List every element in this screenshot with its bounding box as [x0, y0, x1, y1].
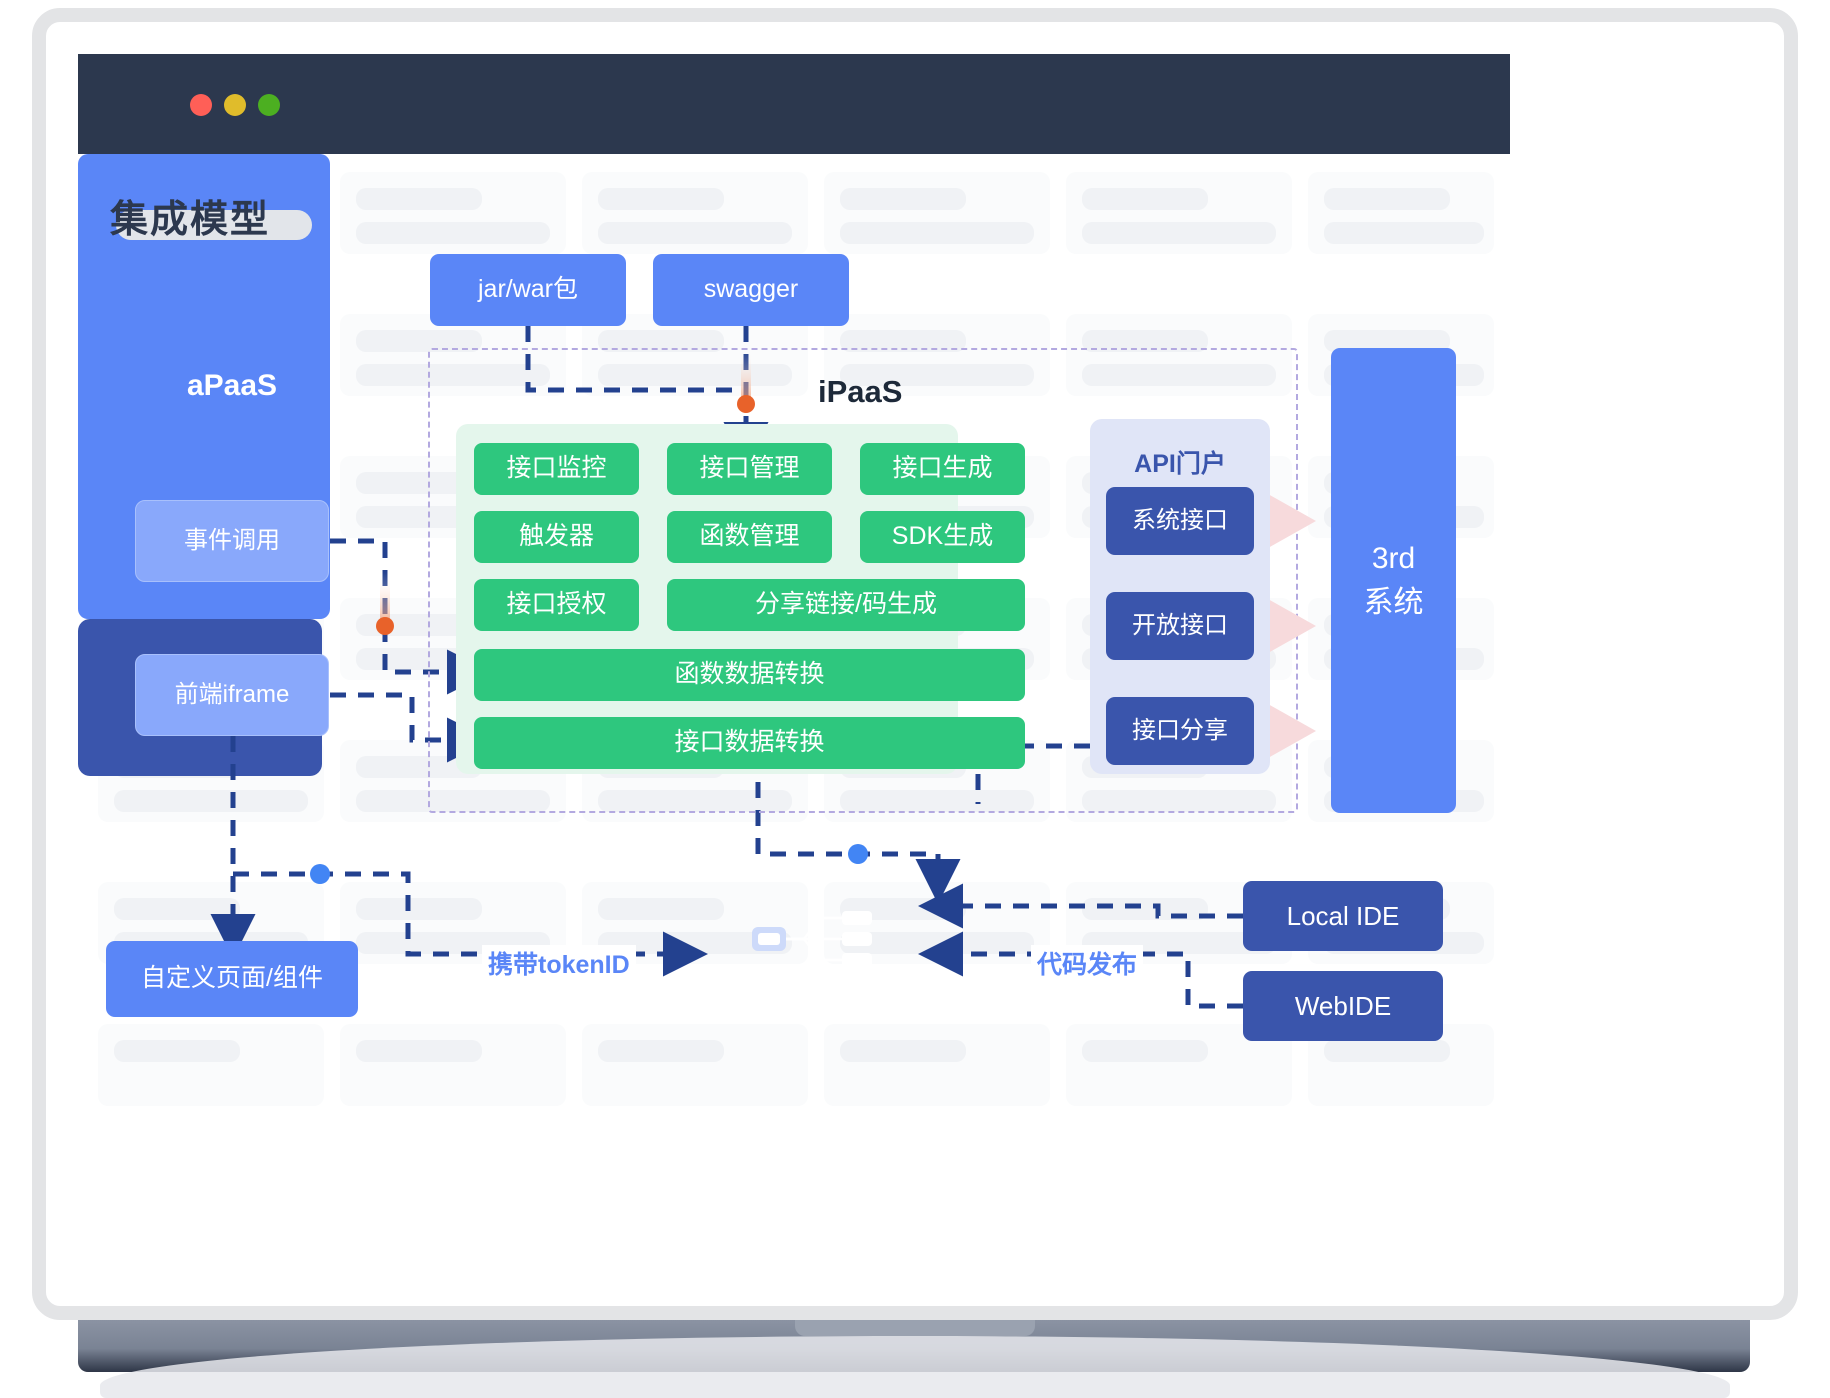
source-box-jar-war[interactable]: jar/war包	[430, 254, 626, 326]
third-party-line1: 3rd	[1372, 537, 1415, 581]
ipaas-cap-func-data-transform[interactable]: 函数数据转换	[474, 649, 1025, 701]
browser-titlebar	[78, 54, 1510, 154]
api-portal-item-share-api[interactable]: 接口分享	[1106, 697, 1254, 765]
apaas-item-event-call[interactable]: 事件调用	[135, 500, 329, 582]
ipaas-cap-share-link[interactable]: 分享链接/码生成	[667, 579, 1025, 631]
web-ide-box[interactable]: WebIDE	[1243, 971, 1443, 1041]
minimize-icon[interactable]	[224, 94, 246, 116]
ipaas-cap-api-auth[interactable]: 接口授权	[474, 579, 639, 631]
apaas-item-front-iframe[interactable]: 前端iframe	[135, 654, 329, 736]
close-icon[interactable]	[190, 94, 212, 116]
api-portal-item-open-api[interactable]: 开放接口	[1106, 592, 1254, 660]
ipaas-cap-api-monitor[interactable]: 接口监控	[474, 443, 639, 495]
page-title: 集成模型	[110, 188, 270, 243]
local-ide-box[interactable]: Local IDE	[1243, 881, 1443, 951]
third-party-system-box[interactable]: 3rd 系统	[1331, 348, 1456, 813]
edge-label-token-id: 携带tokenID	[482, 945, 636, 981]
ipaas-title: iPaaS	[818, 374, 902, 410]
ipaas-cap-api-manage[interactable]: 接口管理	[667, 443, 832, 495]
laptop-base-notch	[795, 1320, 1035, 1336]
ipaas-cap-func-manage[interactable]: 函数管理	[667, 511, 832, 563]
source-box-swagger[interactable]: swagger	[653, 254, 849, 326]
maximize-icon[interactable]	[258, 94, 280, 116]
laptop-mockup: 集成模型	[0, 0, 1830, 1397]
runtime-nodes-icon	[750, 906, 882, 972]
ipaas-cap-trigger[interactable]: 触发器	[474, 511, 639, 563]
third-party-line2: 系统	[1364, 581, 1424, 625]
ipaas-cap-sdk-generate[interactable]: SDK生成	[860, 511, 1025, 563]
api-portal-item-system-api[interactable]: 系统接口	[1106, 487, 1254, 555]
edge-label-code-publish: 代码发布	[1031, 945, 1143, 981]
ipaas-cap-api-data-transform[interactable]: 接口数据转换	[474, 717, 1025, 769]
apaas-title: aPaaS	[106, 369, 358, 403]
custom-page-component-box[interactable]: 自定义页面/组件	[106, 941, 358, 1017]
ipaas-cap-api-generate[interactable]: 接口生成	[860, 443, 1025, 495]
api-portal-title: API门户	[1090, 444, 1270, 480]
runtime-environment-label: 运行环境	[694, 977, 938, 1016]
integration-model-diagram: 集成模型	[78, 154, 1510, 1109]
